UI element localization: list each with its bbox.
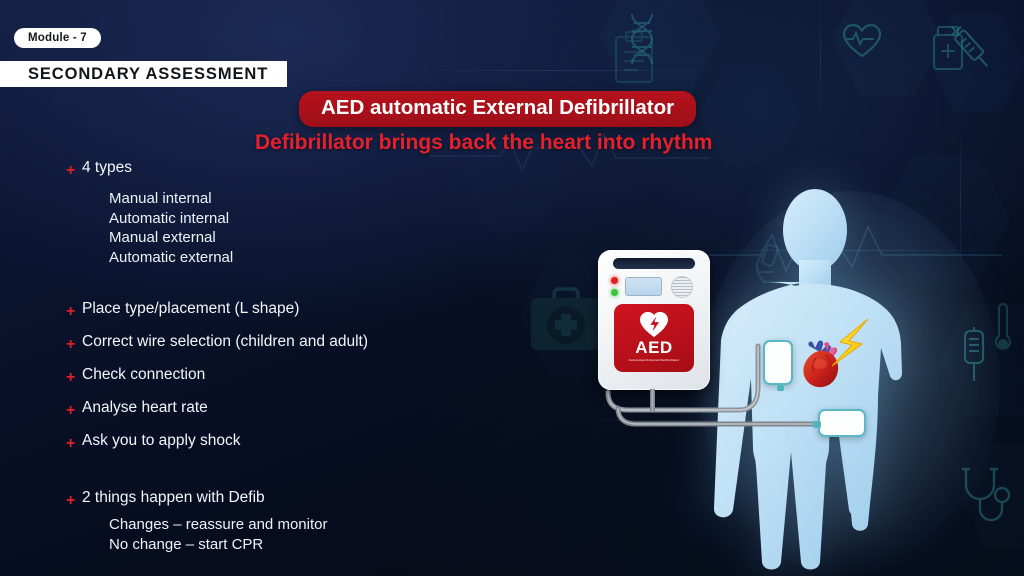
plus-icon: + — [66, 304, 82, 320]
content-list: + 4 types Manual internal Automatic inte… — [66, 158, 536, 554]
bullet-item-outcome: + 2 things happen with Defib — [66, 488, 536, 509]
bullet-item-types: + 4 types — [66, 158, 536, 179]
lightning-bolt-icon — [828, 318, 872, 370]
bullet-label: Correct wire selection (children and adu… — [82, 332, 368, 352]
bullet-label: 4 types — [82, 158, 132, 178]
aed-device: AED Automated External Defibrillator — [598, 250, 710, 390]
bullet-item-connection: + Check connection — [66, 365, 536, 386]
bullet-item-wire: + Correct wire selection (children and a… — [66, 332, 536, 353]
aed-sublabel: Automated External Defibrillator — [629, 358, 680, 362]
medicine-bottle-icon — [928, 24, 968, 74]
sub-item: Automatic internal — [109, 209, 536, 229]
title-banner: AED automatic External Defibrillator — [299, 91, 696, 127]
aed-display-screen — [625, 277, 662, 296]
clipboard-icon — [612, 30, 656, 86]
plus-icon: + — [66, 370, 82, 386]
aed-front-panel: AED Automated External Defibrillator — [614, 304, 694, 372]
speaker-grille-icon — [671, 276, 693, 298]
bullet-label: Place type/placement (L shape) — [82, 299, 299, 319]
title-text: AED automatic External Defibrillator — [321, 96, 674, 119]
syringe-icon — [939, 15, 1000, 78]
sub-item: No change – start CPR — [109, 535, 536, 555]
heart-pulse-icon — [840, 22, 884, 60]
slide-root: Module - 7 SECONDARY ASSESSMENT AED auto… — [0, 0, 1024, 576]
plus-icon: + — [66, 436, 82, 452]
aed-handle — [613, 258, 695, 269]
module-badge: Module - 7 — [14, 28, 101, 48]
sub-item: Manual internal — [109, 189, 536, 209]
plus-icon: + — [66, 163, 82, 179]
plus-icon: + — [66, 337, 82, 353]
dna-icon — [625, 12, 659, 66]
electrode-pad-upper — [763, 340, 793, 385]
bullet-label: 2 things happen with Defib — [82, 488, 265, 508]
aed-label: AED — [635, 339, 672, 356]
subtitle-text: Defibrillator brings back the heart into… — [255, 131, 712, 155]
bullet-item-analyse: + Analyse heart rate — [66, 398, 536, 419]
status-led-green-icon — [611, 289, 618, 296]
pad-connector — [777, 385, 784, 391]
sub-item: Automatic external — [109, 248, 536, 268]
status-led-red-icon — [611, 277, 618, 284]
sub-item: Changes – reassure and monitor — [109, 515, 536, 535]
bullet-item-placement: + Place type/placement (L shape) — [66, 299, 536, 320]
aed-stand-pole — [650, 389, 655, 411]
bullet-label: Ask you to apply shock — [82, 431, 241, 451]
plus-icon: + — [66, 403, 82, 419]
heart-bolt-icon — [638, 310, 670, 338]
section-title-bar: SECONDARY ASSESSMENT — [0, 61, 287, 87]
plus-icon: + — [66, 493, 82, 509]
section-title-text: SECONDARY ASSESSMENT — [28, 65, 268, 84]
pad-connector — [813, 421, 821, 428]
sub-item: Manual external — [109, 228, 536, 248]
bullet-label: Analyse heart rate — [82, 398, 208, 418]
bullet-label: Check connection — [82, 365, 205, 385]
aed-case: AED Automated External Defibrillator — [598, 250, 710, 390]
bullet-item-shock: + Ask you to apply shock — [66, 431, 536, 452]
electrode-pad-lower — [818, 409, 866, 437]
